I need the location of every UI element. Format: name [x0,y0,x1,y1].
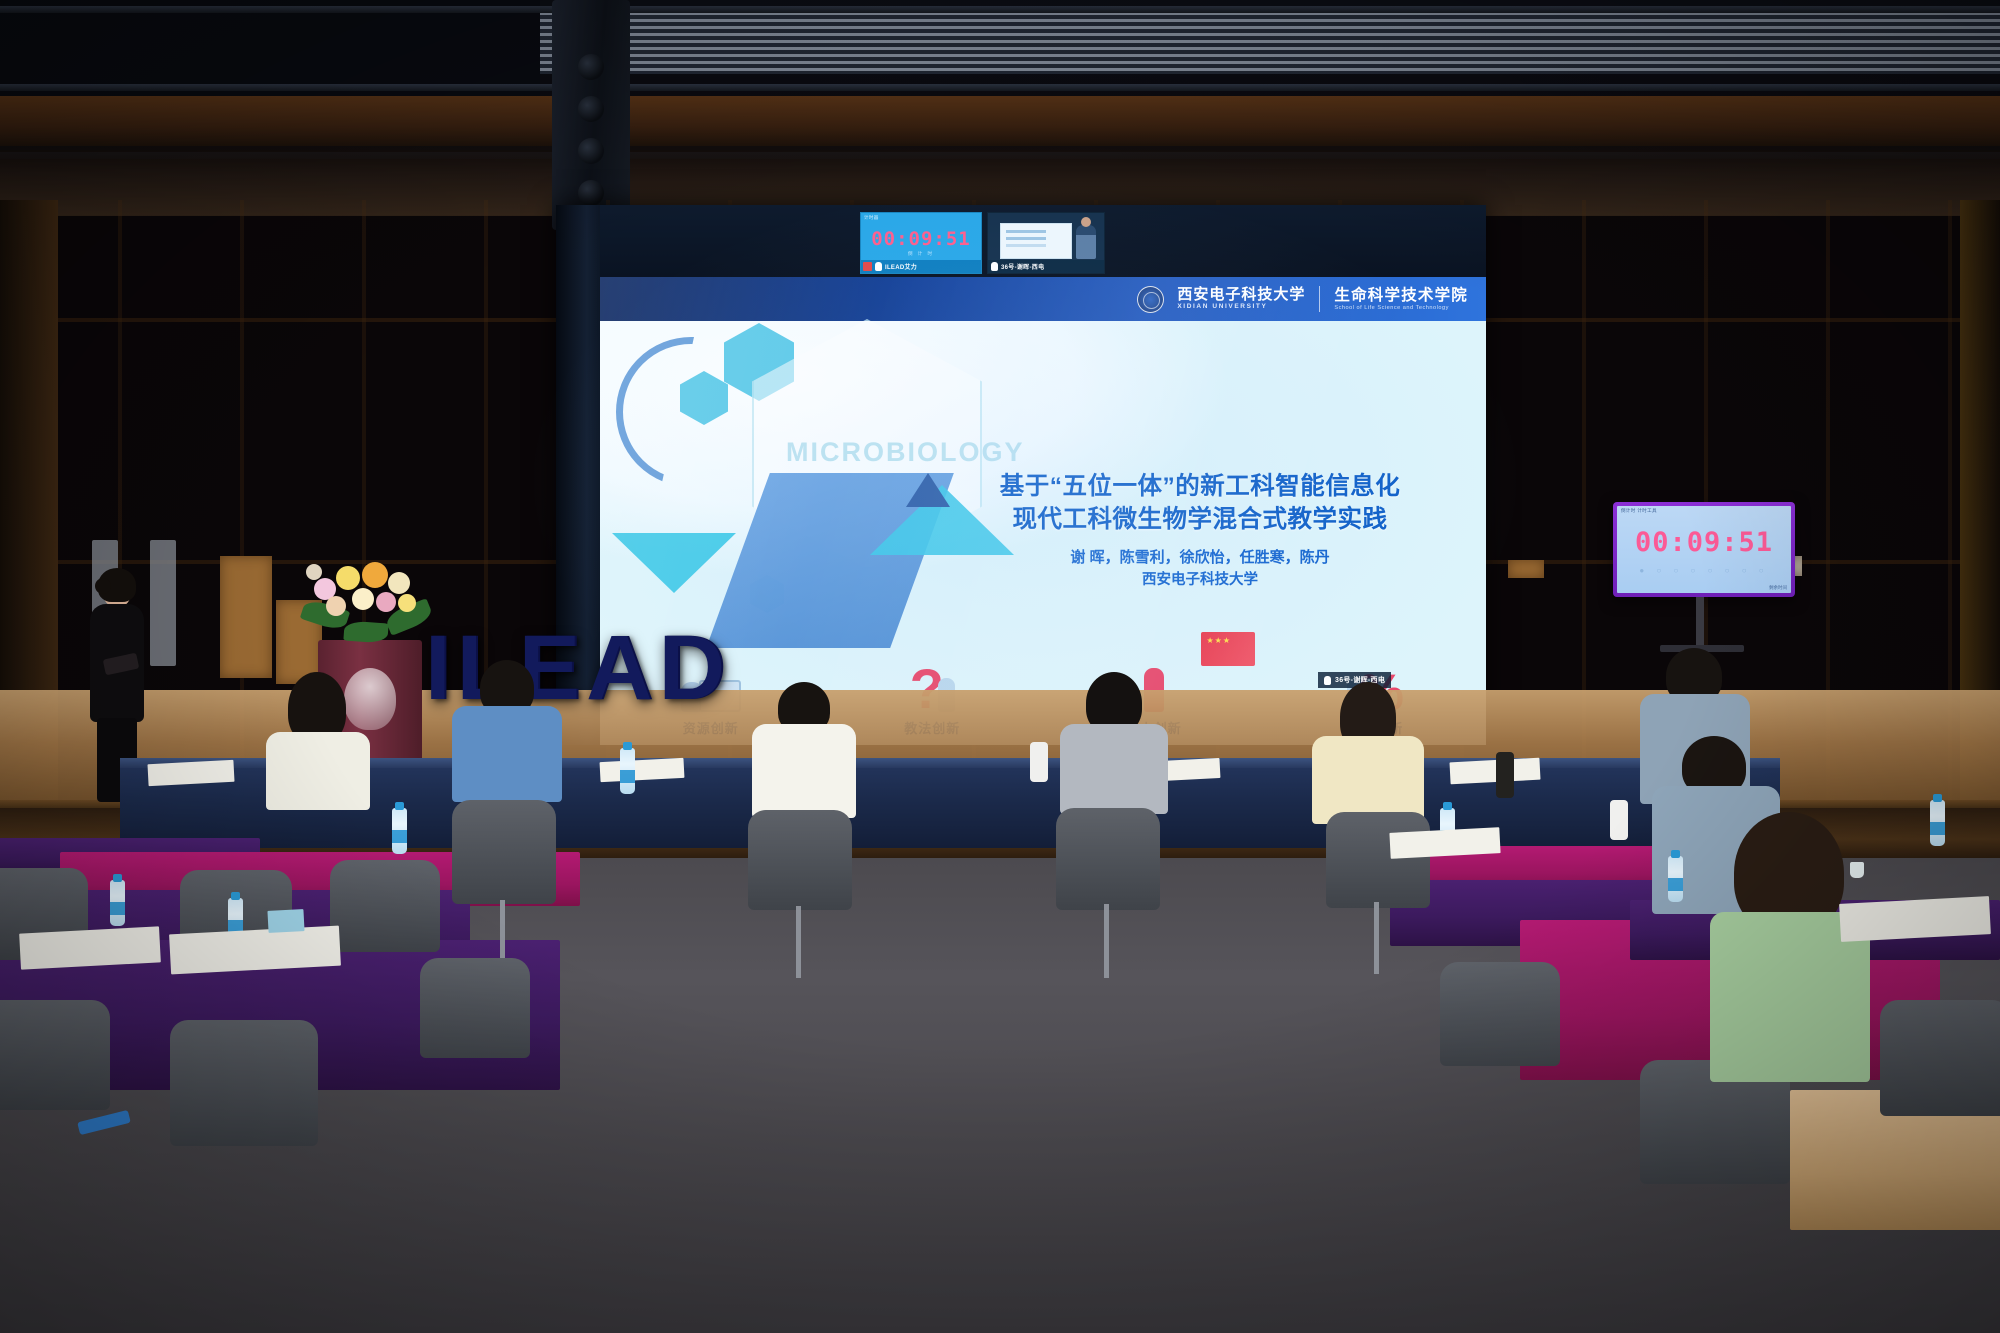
chair-leg-3 [1104,904,1109,978]
judge-papers-4 [1449,758,1540,785]
slide-authors-block: 谢 晖，陈雪利，徐欣怡，任胜寒，陈丹 西安电子科技大学 [930,547,1470,591]
slide-title: 基于“五位一体”的新工科智能信息化 现代工科微生物学混合式教学实践 [930,471,1470,537]
ceiling-warm-band [0,96,2000,146]
chair-audience-7 [1440,962,1560,1066]
countdown-monitor: 倒计时 计时工具 00:09:51 ● ○ ○ ○ ○ ○ ○ ○ 剩余时间 [1613,502,1795,597]
university-name-cn: 西安电子科技大学 [1177,288,1305,304]
chair-audience-3 [330,860,440,952]
monitor-stand [1696,597,1704,649]
hex-flask-icon [680,371,728,425]
ilead-letter-4: D [659,630,725,707]
countdown-corner-label: 剩余时间 [1769,585,1787,591]
judge-person-5 [1312,682,1424,814]
judge-person-1 [262,672,370,802]
conference-hall-scene: 西安电子科技大学 XIDIAN UNIVERSITY 生命科学技术学院 Scho… [0,0,2000,1333]
face-mask [267,909,304,933]
microphone-icon [875,262,882,271]
countdown-timer-value: 00:09:51 [1617,527,1791,558]
led-overlay-panels: 计时器 00:09:51 倒 计 时 ILEAD艾力 36号-谢晖-西电 [860,212,1105,274]
overlay-timer-value: 00:09:51 [861,228,981,250]
ceiling [0,0,2000,215]
chair-leg-2 [796,906,801,978]
audience-papers-3 [1839,896,1991,942]
countdown-monitor-screen: 倒计时 计时工具 00:09:51 ● ○ ○ ○ ○ ○ ○ ○ 剩余时间 [1617,506,1791,593]
audience-papers-1 [19,926,161,969]
chair-judge-1 [452,800,556,904]
wall-outlet-plate-left [1508,560,1544,578]
school-name-en: School of Life Science and Technology [1334,305,1468,311]
hanging-speaker [552,0,630,230]
wall-wood-slot-1 [220,556,272,678]
chair-judge-3 [1056,808,1160,910]
microphone-icon [991,262,998,271]
university-name-en: XIDIAN UNIVERSITY [1177,303,1305,310]
overlay-video-footer: 36号-谢晖-西电 [988,260,1104,273]
overlay-timer-footer: ILEAD艾力 [861,260,981,273]
wall-pilaster-b [150,540,176,666]
overlay-timer-panel: 计时器 00:09:51 倒 计 时 ILEAD艾力 [860,212,982,274]
lighting-truss-upper [0,6,2000,13]
water-bottle-1 [110,880,125,926]
overlay-video-tile: 36号-谢晖-西电 [987,212,1105,274]
flower-arrangement [300,548,432,652]
logo-divider [1319,286,1320,312]
overlay-timer-sublabel: 倒 计 时 [861,251,981,257]
ceiling-dark-left [0,0,540,110]
audience-person-right-2 [1710,812,1870,1072]
university-seal-icon [1137,286,1164,313]
water-bottle-judge-1 [620,748,635,794]
water-bottle-5 [1668,856,1683,902]
school-logo: 生命科学技术学院 School of Life Science and Tech… [1334,287,1468,310]
slide-affiliation: 西安电子科技大学 [930,570,1470,592]
judge-person-4 [1060,672,1168,806]
host-hair-bun [95,578,111,594]
slide-watermark: MICROBIOLOGY [786,437,1025,468]
chair-audience-5 [170,1020,318,1146]
video-tile-slide-preview [1000,223,1072,259]
slide-authors: 谢 晖，陈雪利，徐欣怡，任胜寒，陈丹 [930,547,1470,570]
judge-papers-1 [147,760,234,786]
water-bottle-3 [392,808,407,854]
countdown-top-label: 倒计时 计时工具 [1621,508,1657,514]
judge-person-2 [452,660,562,804]
judge-dark-bottle [1496,752,1514,798]
cyan-inverted-triangle [612,533,736,593]
university-logo: 西安电子科技大学 XIDIAN UNIVERSITY [1137,286,1305,313]
thermos-tumbler [1610,800,1628,840]
slide-title-line-2: 现代工科微生物学混合式教学实践 [930,504,1470,537]
water-bottle-6 [1930,800,1945,846]
slide-title-line-1: 基于“五位一体”的新工科智能信息化 [930,471,1470,504]
chair-audience-9 [1880,1000,2000,1116]
overlay-video-label: 36号-谢晖-西电 [1001,262,1044,271]
video-tile-presenter [1076,225,1096,259]
judge-person-3 [752,682,856,812]
participant-badge-icon [863,262,872,271]
overlay-timer-header: 计时器 [864,215,879,221]
paper-cup [1850,862,1864,878]
judge-tumbler [1030,742,1048,782]
countdown-progress-dots: ● ○ ○ ○ ○ ○ ○ ○ [1617,566,1791,575]
chair-audience-6 [420,958,530,1058]
overlay-speaker-badge: ILEAD艾力 [885,262,917,271]
chair-leg-4 [1374,902,1379,974]
lighting-truss-mid [0,84,2000,91]
slide-header-bar: 西安电子科技大学 XIDIAN UNIVERSITY 生命科学技术学院 Scho… [600,277,1486,321]
chair-judge-2 [748,810,852,910]
school-name-cn: 生命科学技术学院 [1334,287,1468,304]
ilead-letter-3: A [586,630,652,707]
chair-audience-4 [0,1000,110,1110]
chair-judge-4 [1326,812,1430,908]
